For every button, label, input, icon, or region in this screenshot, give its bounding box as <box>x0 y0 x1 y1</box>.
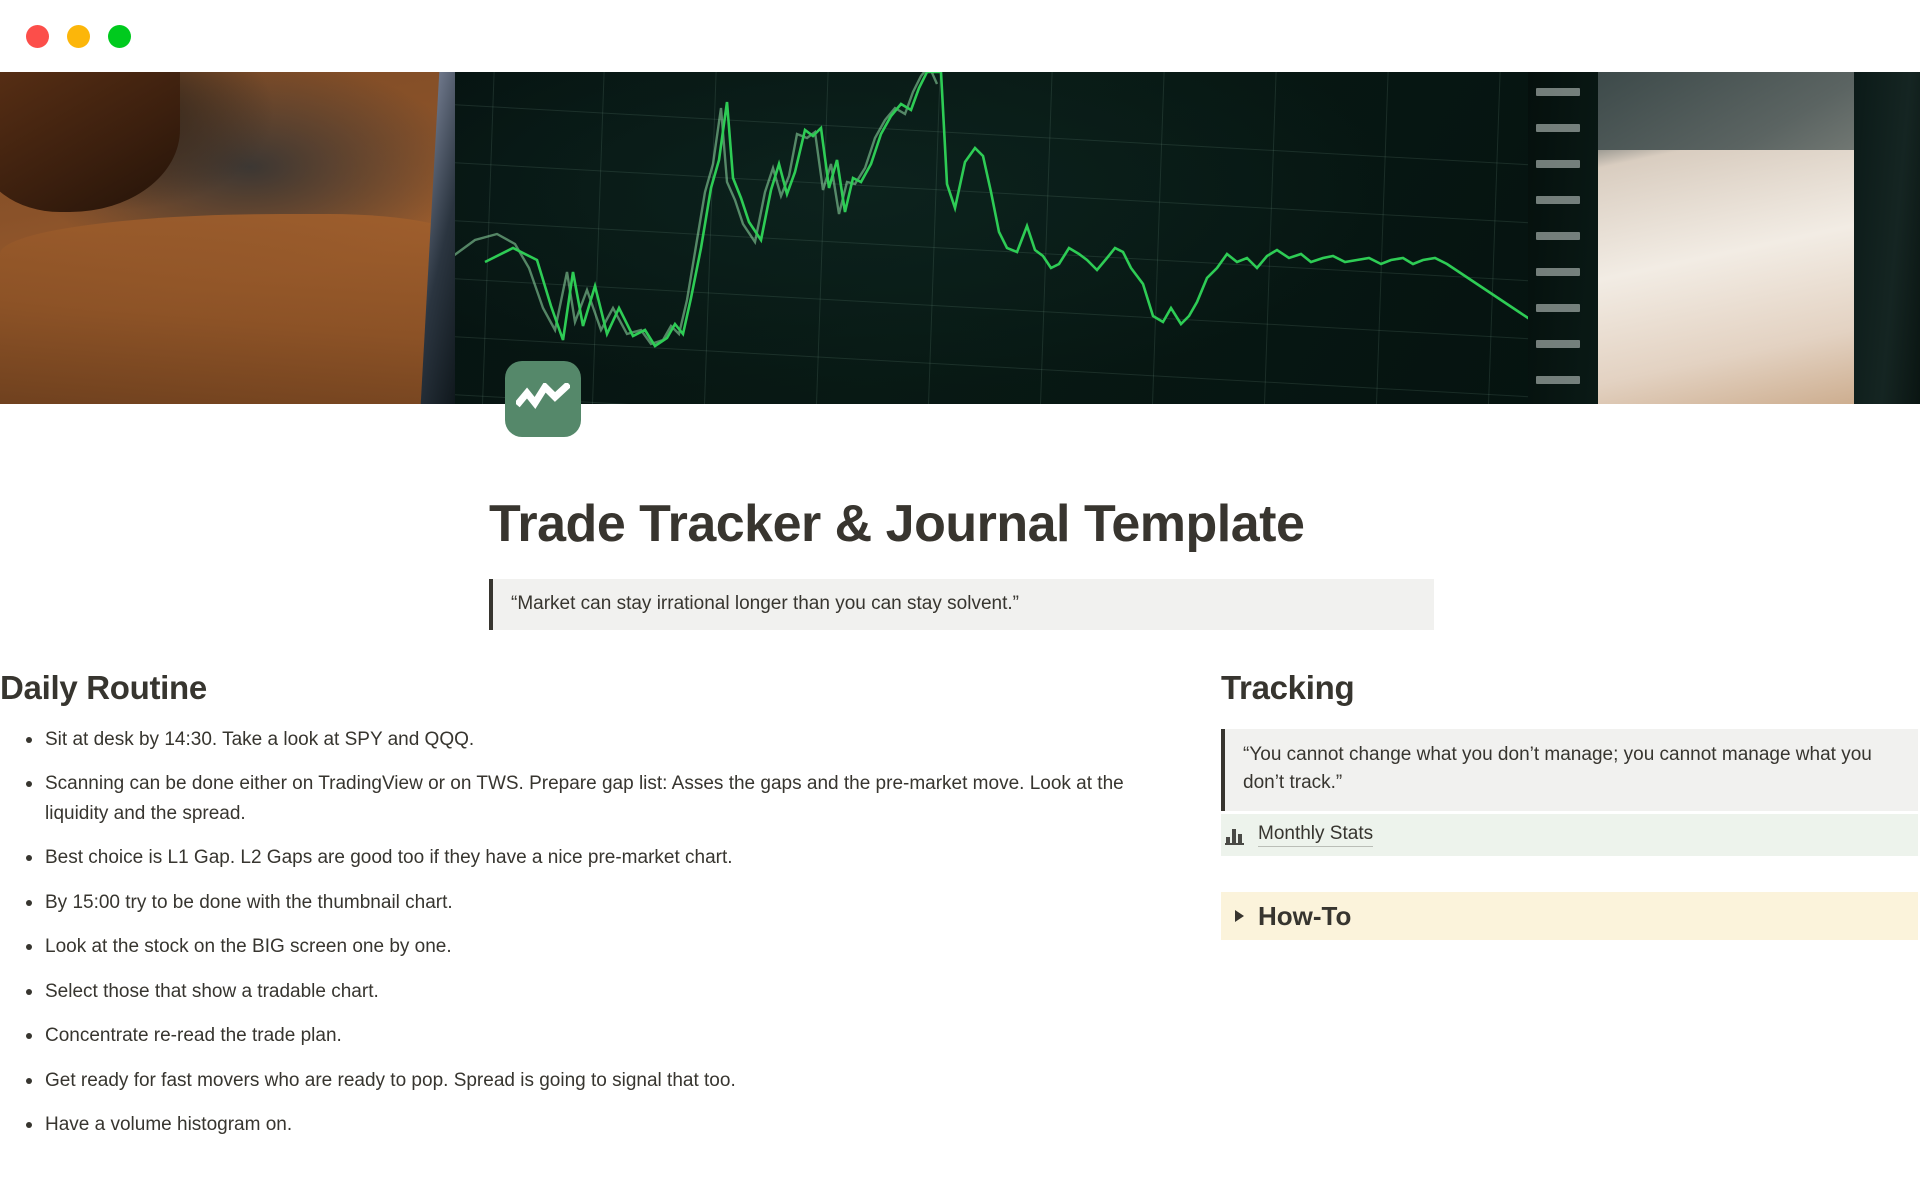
document-body: Trade Tracker & Journal Template “Market… <box>0 404 1920 1200</box>
price-axis <box>1528 72 1600 404</box>
cover-person-hair <box>0 72 180 212</box>
list-item: Have a volume histogram on. <box>0 1110 1140 1139</box>
list-item: Select those that show a tradable chart. <box>0 977 1140 1006</box>
daily-routine-heading: Daily Routine <box>0 669 1185 707</box>
page-quote-text: “Market can stay irrational longer than … <box>511 590 1418 618</box>
list-item: By 15:00 try to be done with the thumbna… <box>0 888 1140 917</box>
close-button[interactable] <box>26 25 49 48</box>
monitor-screen <box>455 72 1575 404</box>
cover-background-blur <box>1598 72 1920 404</box>
tracking-quote-text: “You cannot change what you don’t manage… <box>1243 741 1900 797</box>
monthly-stats-link[interactable]: Monthly Stats <box>1258 823 1373 847</box>
daily-routine-section: Daily Routine Sit at desk by 14:30. Take… <box>0 669 1185 1154</box>
bar-chart-icon <box>1225 825 1247 845</box>
price-line-chart <box>455 72 1575 404</box>
list-item: Get ready for fast movers who are ready … <box>0 1066 1140 1095</box>
list-item: Concentrate re-read the trade plan. <box>0 1021 1140 1050</box>
daily-routine-list: Sit at desk by 14:30. Take a look at SPY… <box>0 725 1185 1139</box>
how-to-label: How-To <box>1258 901 1351 932</box>
tracking-section: Tracking “You cannot change what you don… <box>1221 669 1920 940</box>
zoom-button[interactable] <box>108 25 131 48</box>
tracking-heading: Tracking <box>1221 669 1920 707</box>
minimize-button[interactable] <box>67 25 90 48</box>
cover-image[interactable] <box>0 72 1920 404</box>
line-chart-icon[interactable] <box>505 361 581 437</box>
triangle-right-icon[interactable] <box>1235 910 1244 922</box>
page-quote-callout: “Market can stay irrational longer than … <box>489 579 1434 630</box>
list-item: Sit at desk by 14:30. Take a look at SPY… <box>0 725 1140 754</box>
monthly-stats-row[interactable]: Monthly Stats <box>1221 814 1918 856</box>
how-to-toggle[interactable]: How-To <box>1221 892 1918 940</box>
window-titlebar <box>0 0 1920 72</box>
page-title: Trade Tracker & Journal Template <box>489 494 1304 554</box>
cover-person <box>0 72 470 404</box>
monitor-bezel-right <box>1854 72 1920 404</box>
tracking-quote-callout: “You cannot change what you don’t manage… <box>1221 729 1918 811</box>
list-item: Look at the stock on the BIG screen one … <box>0 932 1140 961</box>
window-controls <box>26 25 131 48</box>
cover-photo <box>0 72 1920 404</box>
list-item: Scanning can be done either on TradingVi… <box>0 769 1140 828</box>
list-item: Best choice is L1 Gap. L2 Gaps are good … <box>0 843 1140 872</box>
line-chart-glyph <box>516 383 570 415</box>
